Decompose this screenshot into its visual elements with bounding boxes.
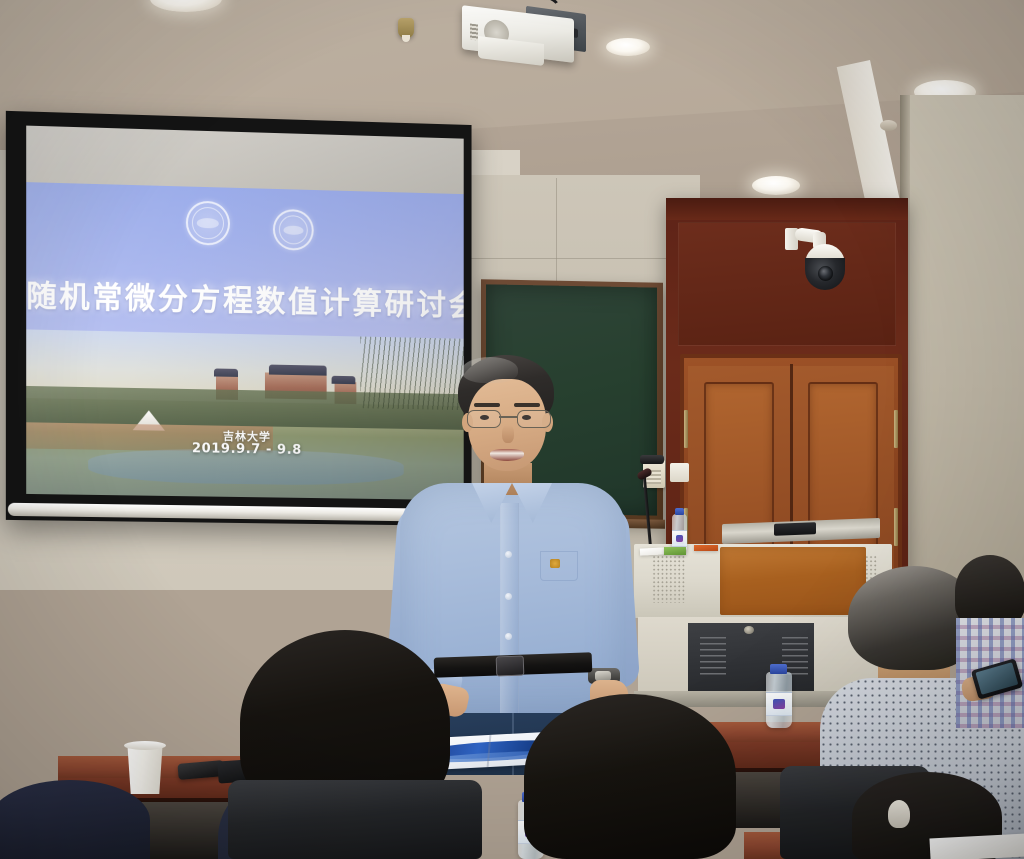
earphone-icon [888, 800, 910, 828]
glasses-bridge [499, 416, 517, 418]
tablet-console[interactable] [774, 522, 816, 536]
lecture-room-photo: 随机常微分方程数值计算研讨会 吉林大学 2019.9.7 - 9.8 [0, 0, 1024, 859]
door-hinge [894, 508, 898, 546]
wall-seam [470, 258, 670, 259]
attendee-foreground-left [0, 780, 150, 859]
glasses-lens-right [517, 410, 551, 428]
document-sheet[interactable] [929, 834, 1024, 859]
wall-switch-plate[interactable] [670, 463, 689, 482]
wall-seam [556, 178, 557, 288]
presenter-shirt-placket [500, 503, 519, 713]
smoke-detector [880, 120, 897, 131]
wood-wall-header [666, 198, 908, 220]
lectern-speaker-grille [652, 555, 686, 603]
presenter-shirt-button [505, 551, 512, 558]
bottle-label [672, 530, 687, 547]
presenter-shirt-button [505, 633, 512, 640]
glasses-lens-left [467, 410, 501, 428]
presenter-mouth [490, 449, 524, 461]
photo-building-roof [269, 365, 327, 376]
document-sheet[interactable] [664, 547, 686, 555]
presenter-eyebrow-right [514, 403, 540, 407]
projector-vents [470, 24, 478, 41]
university-seal-icon [273, 209, 314, 251]
recessed-downlight [606, 38, 650, 56]
attendee-hair [955, 555, 1024, 627]
ceiling-projector [462, 0, 602, 62]
panel-knob-icon[interactable] [744, 626, 754, 634]
wall-right [905, 95, 1024, 615]
paper-cup-rim [124, 741, 166, 750]
door-hinge [894, 410, 898, 448]
bottle-cap[interactable] [675, 508, 684, 515]
photo-tower-roof [332, 376, 356, 384]
presenter-nose [502, 425, 514, 443]
attendee-foreground-center [524, 694, 736, 859]
presenter-shirt-button [505, 593, 512, 600]
bottle-label [766, 692, 792, 716]
belt-buckle [496, 656, 525, 677]
panel-vent-slots [700, 637, 726, 677]
paper-cup[interactable] [124, 744, 166, 794]
document-sheet[interactable] [694, 545, 718, 551]
door-hinge [684, 410, 688, 448]
office-chair[interactable] [228, 780, 482, 859]
photo-tower-roof [214, 368, 238, 376]
fire-sprinkler [398, 18, 414, 38]
presenter-hair-highlight [462, 357, 518, 383]
university-seal-icon [186, 201, 230, 246]
bottle-cap[interactable] [770, 664, 787, 674]
camera-lens-icon [818, 266, 833, 281]
presenter-shirt-logo [550, 559, 560, 568]
presenter-eyebrow-left [474, 403, 500, 407]
recessed-downlight [752, 176, 800, 195]
